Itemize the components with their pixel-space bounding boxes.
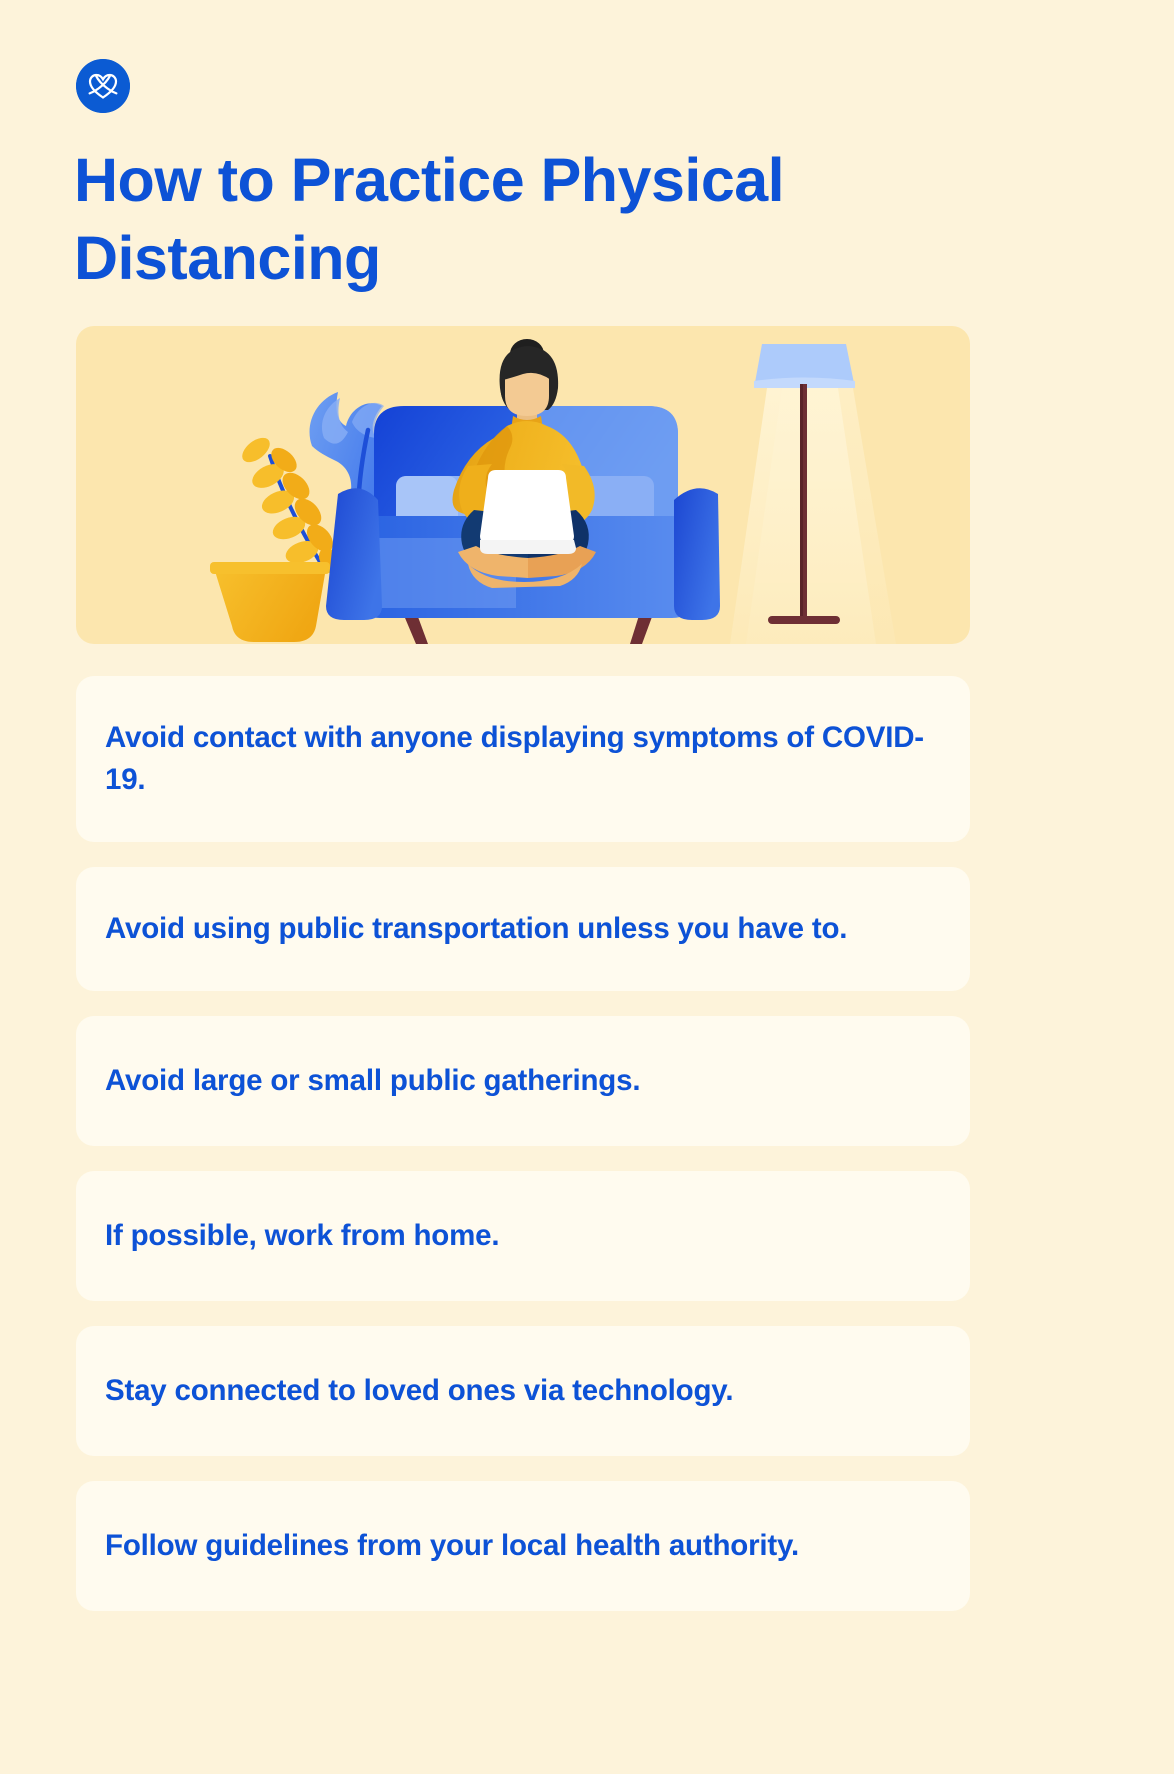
tip-card-avoid-public-transport[interactable]: Avoid using public transportation unless… — [76, 867, 970, 991]
illustration-panel — [76, 326, 970, 644]
home-scene-illustration — [76, 326, 970, 644]
brand-logo — [76, 59, 130, 113]
heart-ribbon-icon — [76, 59, 130, 113]
tip-text: If possible, work from home. — [105, 1215, 499, 1257]
tip-text: Stay connected to loved ones via technol… — [105, 1370, 733, 1412]
tip-text: Avoid contact with anyone displaying sym… — [105, 717, 925, 801]
tips-list: Avoid contact with anyone displaying sym… — [76, 676, 970, 1636]
tip-card-work-from-home[interactable]: If possible, work from home. — [76, 1171, 970, 1301]
person-with-laptop-icon — [453, 339, 597, 588]
floor-lamp-icon — [730, 344, 896, 644]
tip-card-follow-guidelines[interactable]: Follow guidelines from your local health… — [76, 1481, 970, 1611]
tip-text: Avoid large or small public gatherings. — [105, 1060, 640, 1102]
page-title: How to Practice Physical Distancing — [74, 141, 914, 297]
tip-card-stay-connected[interactable]: Stay connected to loved ones via technol… — [76, 1326, 970, 1456]
tip-card-avoid-contact[interactable]: Avoid contact with anyone displaying sym… — [76, 676, 970, 842]
tip-card-avoid-gatherings[interactable]: Avoid large or small public gatherings. — [76, 1016, 970, 1146]
tip-text: Avoid using public transportation unless… — [105, 908, 847, 950]
tip-text: Follow guidelines from your local health… — [105, 1525, 799, 1567]
infographic-poster: How to Practice Physical Distancing — [0, 0, 1174, 1774]
